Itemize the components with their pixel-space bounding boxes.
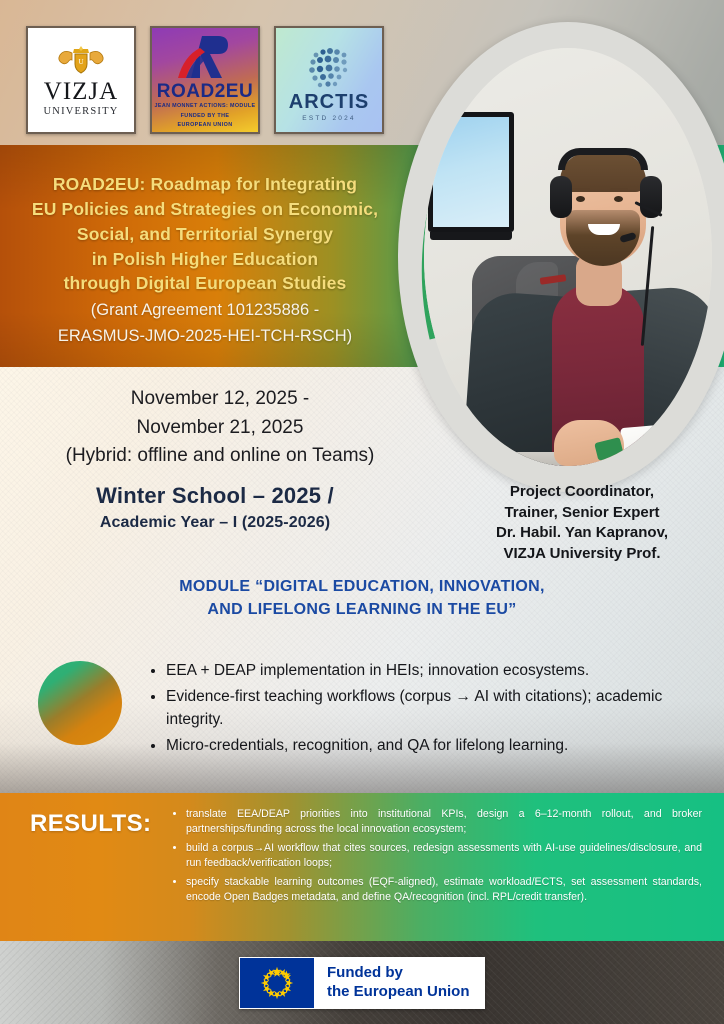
list-item: build a corpus→AI workflow that cites so… bbox=[186, 841, 702, 871]
coordinator-role-1: Project Coordinator, bbox=[444, 482, 720, 503]
eu-funded-line-1: Funded by bbox=[327, 964, 470, 983]
winter-school-title: Winter School – 2025 / bbox=[0, 483, 430, 509]
title-line-2: EU Policies and Strategies on Economic, bbox=[0, 197, 410, 222]
dates-line-2: November 21, 2025 bbox=[0, 414, 440, 443]
list-item: specify stackable learning outcomes (EQF… bbox=[186, 875, 702, 905]
list-item: EEA + DEAP implementation in HEIs; innov… bbox=[166, 660, 698, 683]
heraldic-crest-icon: U bbox=[54, 43, 108, 77]
logo-row: U VIZJA UNIVERSITY ROAD2EU JEAN MONNET A… bbox=[26, 26, 384, 134]
poster-title: ROAD2EU: Roadmap for Integrating EU Poli… bbox=[0, 172, 410, 348]
logo-road2eu: ROAD2EU JEAN MONNET ACTIONS: MODULE FUND… bbox=[150, 26, 260, 134]
list-item: Evidence-first teaching workflows (corpu… bbox=[166, 686, 698, 732]
eu-funding-badge: Funded by the European Union bbox=[239, 957, 485, 1009]
arctis-name: ARCTIS bbox=[289, 92, 369, 112]
list-item: Micro-credentials, recognition, and QA f… bbox=[166, 735, 698, 758]
logo-vizja: U VIZJA UNIVERSITY bbox=[26, 26, 136, 134]
coordinator-role-2: Trainer, Senior Expert bbox=[444, 503, 720, 524]
results-label: RESULTS: bbox=[30, 810, 151, 838]
winter-school-heading: Winter School – 2025 / Academic Year – I… bbox=[0, 483, 430, 532]
photo-image bbox=[424, 48, 712, 466]
module-heading: MODULE “DIGITAL EDUCATION, INNOVATION, A… bbox=[60, 576, 664, 621]
arctis-subtitle: ESTD 2024 bbox=[302, 115, 355, 122]
eu-funded-line-2: the European Union bbox=[327, 983, 470, 1002]
module-line-2: AND LIFELONG LEARNING IN THE EU” bbox=[60, 599, 664, 622]
title-line-1: ROAD2EU: Roadmap for Integrating bbox=[0, 172, 410, 197]
road2eu-name: ROAD2EU bbox=[157, 82, 253, 101]
svg-text:U: U bbox=[78, 58, 83, 66]
topics-list: EEA + DEAP implementation in HEIs; innov… bbox=[150, 660, 698, 761]
coordinator-name: Dr. Habil. Yan Kapranov, bbox=[444, 523, 720, 544]
coordinator-affiliation: VIZJA University Prof. bbox=[444, 544, 720, 565]
results-list: translate EEA/DEAP priorities into insti… bbox=[172, 807, 702, 909]
dotted-globe-icon bbox=[302, 43, 356, 91]
eu-flag-icon bbox=[240, 958, 314, 1008]
decorative-gradient-circle bbox=[38, 661, 122, 745]
list-item: translate EEA/DEAP priorities into insti… bbox=[186, 807, 702, 837]
eu-funding-text: Funded by the European Union bbox=[327, 964, 470, 1002]
dates-format-line: (Hybrid: offline and online on Teams) bbox=[0, 442, 440, 471]
module-line-1: MODULE “DIGITAL EDUCATION, INNOVATION, bbox=[60, 576, 664, 599]
title-line-4: in Polish Higher Education bbox=[0, 247, 410, 272]
road2eu-subtitle: JEAN MONNET ACTIONS: MODULE bbox=[155, 103, 256, 109]
vizja-subtitle: UNIVERSITY bbox=[44, 106, 119, 117]
academic-year-label: Academic Year – I (2025-2026) bbox=[0, 514, 430, 532]
coordinator-info: Project Coordinator, Trainer, Senior Exp… bbox=[444, 482, 720, 565]
title-line-5: through Digital European Studies bbox=[0, 271, 410, 296]
road2eu-funded-line1: FUNDED BY THE bbox=[181, 113, 230, 121]
grant-line-2: ERASMUS-JMO-2025-HEI-TCH-RSCH) bbox=[0, 325, 410, 348]
road-r-icon bbox=[174, 34, 236, 80]
poster-root: U VIZJA UNIVERSITY ROAD2EU JEAN MONNET A… bbox=[0, 0, 724, 1024]
road2eu-funded-line2: EUROPEAN UNION bbox=[177, 122, 232, 130]
logo-arctis: ARCTIS ESTD 2024 bbox=[274, 26, 384, 134]
grant-line-1: (Grant Agreement 101235886 - bbox=[0, 299, 410, 322]
vizja-name: VIZJA bbox=[44, 79, 118, 104]
dates-line-1: November 12, 2025 - bbox=[0, 385, 440, 414]
event-dates: November 12, 2025 - November 21, 2025 (H… bbox=[0, 385, 440, 471]
title-line-3: Social, and Territorial Synergy bbox=[0, 222, 410, 247]
coordinator-photo bbox=[398, 22, 724, 492]
